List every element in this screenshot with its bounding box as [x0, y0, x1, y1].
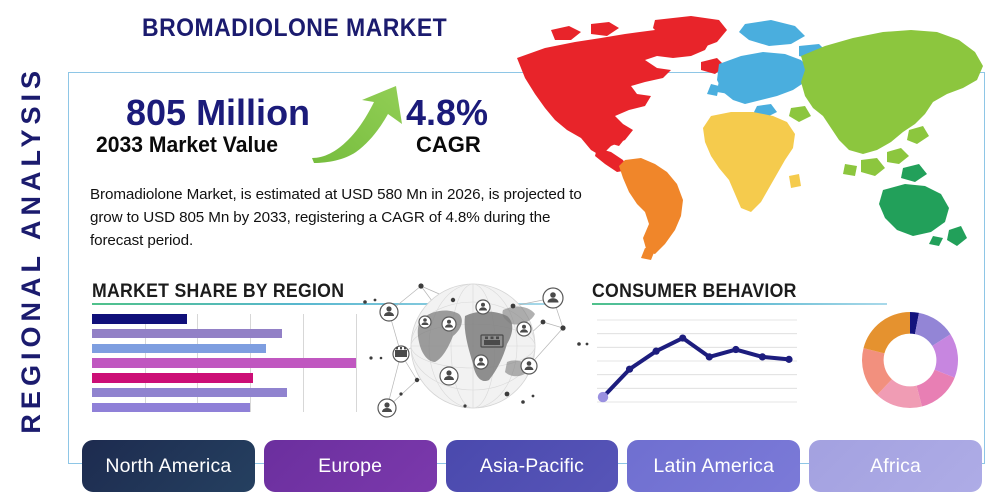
globe-sphere: [411, 284, 535, 408]
regional-analysis-side-label: REGIONAL ANALYSIS: [0, 0, 62, 500]
region-tab-label: Africa: [870, 455, 921, 478]
consumer-behavior-heading: CONSUMER BEHAVIOR: [592, 281, 797, 303]
line-chart-point: [626, 366, 633, 373]
globe-network-graphic: [357, 266, 589, 431]
region-tab-north-america[interactable]: North America: [82, 440, 255, 492]
bar-chart-bar: [92, 373, 253, 383]
region-tab-label: North America: [105, 455, 231, 478]
region-tab-label: Europe: [318, 455, 382, 478]
region-tab-asia-pacific[interactable]: Asia-Pacific: [446, 440, 619, 492]
bar-chart-bar: [92, 329, 282, 339]
line-chart-gridlines: [597, 320, 797, 402]
region-tab-europe[interactable]: Europe: [264, 440, 437, 492]
bar-chart-bar: [92, 388, 287, 398]
line-chart-point: [785, 356, 792, 363]
line-chart-point: [706, 353, 713, 360]
donut-segment: [864, 312, 910, 353]
consumer-behavior-heading-rule: [592, 303, 887, 305]
market-summary-text: Bromadiolone Market, is estimated at USD…: [90, 183, 595, 252]
line-chart-point: [598, 392, 608, 402]
cagr-figure: 4.8%: [406, 92, 488, 134]
region-tabs-bar: North AmericaEuropeAsia-PacificLatin Ame…: [82, 440, 982, 492]
line-chart-point: [732, 346, 739, 353]
bar-chart-bars: [92, 314, 382, 412]
page-title: BROMADIOLONE MARKET: [142, 14, 447, 43]
cagr-label: CAGR: [416, 132, 481, 158]
consumer-behavior-line-chart: [597, 312, 797, 412]
line-chart-point: [653, 348, 660, 355]
world-map-region-south-america: [619, 158, 683, 260]
world-map-region-africa: [703, 112, 801, 212]
region-tab-africa[interactable]: Africa: [809, 440, 982, 492]
world-map-region-north-america: [517, 16, 727, 172]
line-chart-point: [759, 353, 766, 360]
region-tab-label: Latin America: [653, 455, 774, 478]
bar-chart-bar: [92, 358, 356, 368]
side-label-text: REGIONAL ANALYSIS: [16, 66, 47, 434]
bar-chart-bar: [92, 403, 250, 413]
bar-chart-bar: [92, 314, 187, 324]
market-value-label: 2033 Market Value: [96, 132, 278, 158]
region-distribution-donut-chart: [858, 308, 962, 412]
market-share-bar-chart: [92, 314, 382, 412]
line-chart-point: [679, 334, 686, 341]
growth-arrow-icon: [310, 84, 410, 164]
region-tab-latin-america[interactable]: Latin America: [627, 440, 800, 492]
key-stats-row: 805 Million 2033 Market Value 4.8% CAGR: [96, 92, 516, 170]
world-map-region-oceania: [879, 164, 967, 246]
world-map-region-asia: [789, 30, 983, 176]
market-value-figure: 805 Million: [126, 92, 310, 134]
market-share-heading: MARKET SHARE BY REGION: [92, 281, 344, 303]
donut-segments: [862, 312, 958, 408]
region-tab-label: Asia-Pacific: [480, 455, 584, 478]
bar-chart-bar: [92, 344, 266, 354]
